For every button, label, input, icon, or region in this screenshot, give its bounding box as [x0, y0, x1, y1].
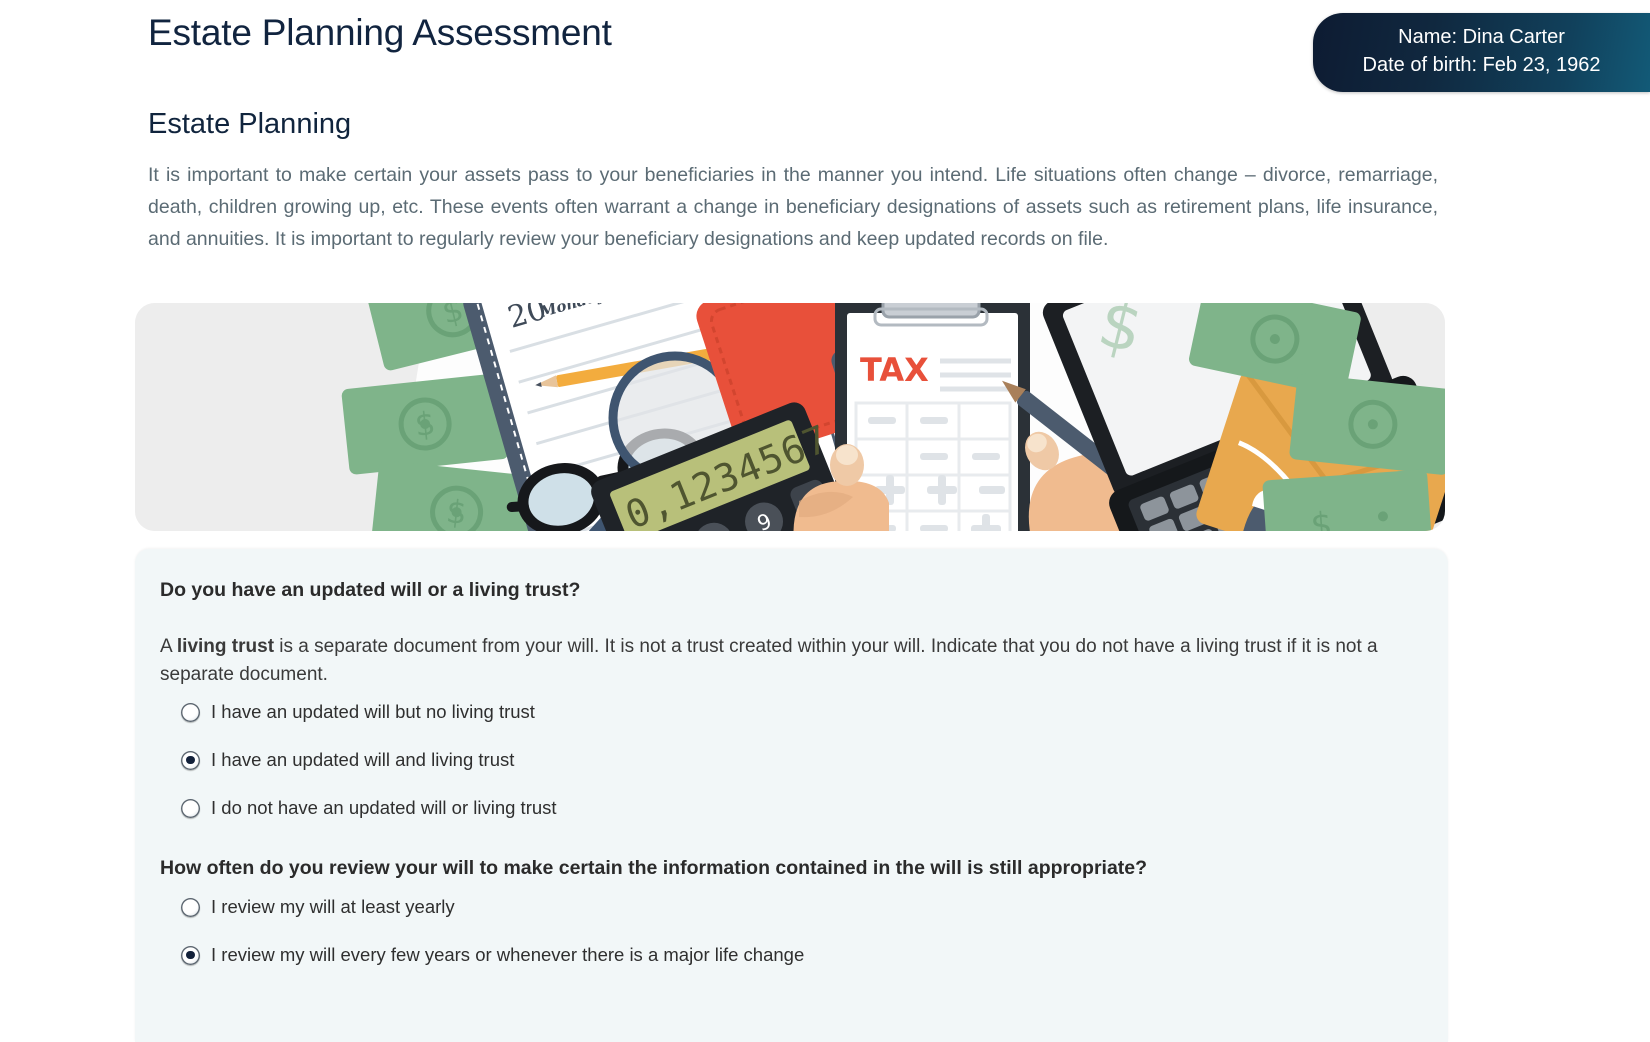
question-2-option-2[interactable]: I review my will every few years or when… — [181, 944, 804, 966]
radio-selected-icon[interactable] — [181, 751, 200, 770]
badge-name-line: Name: Dina Carter — [1339, 23, 1624, 51]
option-label: I do not have an updated will or living … — [211, 797, 557, 819]
section-intro-paragraph: It is important to make certain your ass… — [148, 160, 1438, 255]
page-title: Estate Planning Assessment — [148, 12, 612, 54]
section-title: Estate Planning — [148, 108, 351, 141]
question-1-option-1[interactable]: I have an updated will but no living tru… — [181, 701, 535, 723]
option-label: I have an updated will and living trust — [211, 749, 514, 771]
svg-text:$: $ — [1309, 505, 1333, 531]
badge-dob-line: Date of birth: Feb 23, 1962 — [1339, 51, 1624, 79]
svg-text:TAX: TAX — [860, 351, 929, 389]
radio-selected-icon[interactable] — [181, 946, 200, 965]
note-prefix: A — [160, 636, 177, 657]
assessment-page: Estate Planning Assessment Name: Dina Ca… — [0, 0, 1650, 1042]
option-label: I review my will at least yearly — [211, 896, 455, 918]
question-2-heading: How often do you review your will to mak… — [160, 857, 1147, 880]
question-2-option-1[interactable]: I review my will at least yearly — [181, 896, 455, 918]
option-label: I have an updated will but no living tru… — [211, 701, 535, 723]
tax-desk-flatlay-icon: $ $ $ — [135, 303, 1445, 531]
note-emphasis: living trust — [177, 636, 274, 657]
radio-unselected-icon[interactable] — [181, 703, 200, 722]
hero-illustration: $ $ $ — [135, 303, 1445, 531]
option-label: I review my will every few years or when… — [211, 944, 804, 966]
patient-id-badge: Name: Dina Carter Date of birth: Feb 23,… — [1313, 13, 1650, 92]
radio-unselected-icon[interactable] — [181, 898, 200, 917]
question-1-heading: Do you have an updated will or a living … — [160, 579, 580, 602]
note-suffix: is a separate document from your will. I… — [160, 636, 1378, 685]
questions-card: Do you have an updated will or a living … — [135, 549, 1448, 1042]
question-1-option-2[interactable]: I have an updated will and living trust — [181, 749, 514, 771]
question-1-option-3[interactable]: I do not have an updated will or living … — [181, 797, 557, 819]
radio-unselected-icon[interactable] — [181, 799, 200, 818]
question-1-note: A living trust is a separate document fr… — [160, 633, 1410, 689]
